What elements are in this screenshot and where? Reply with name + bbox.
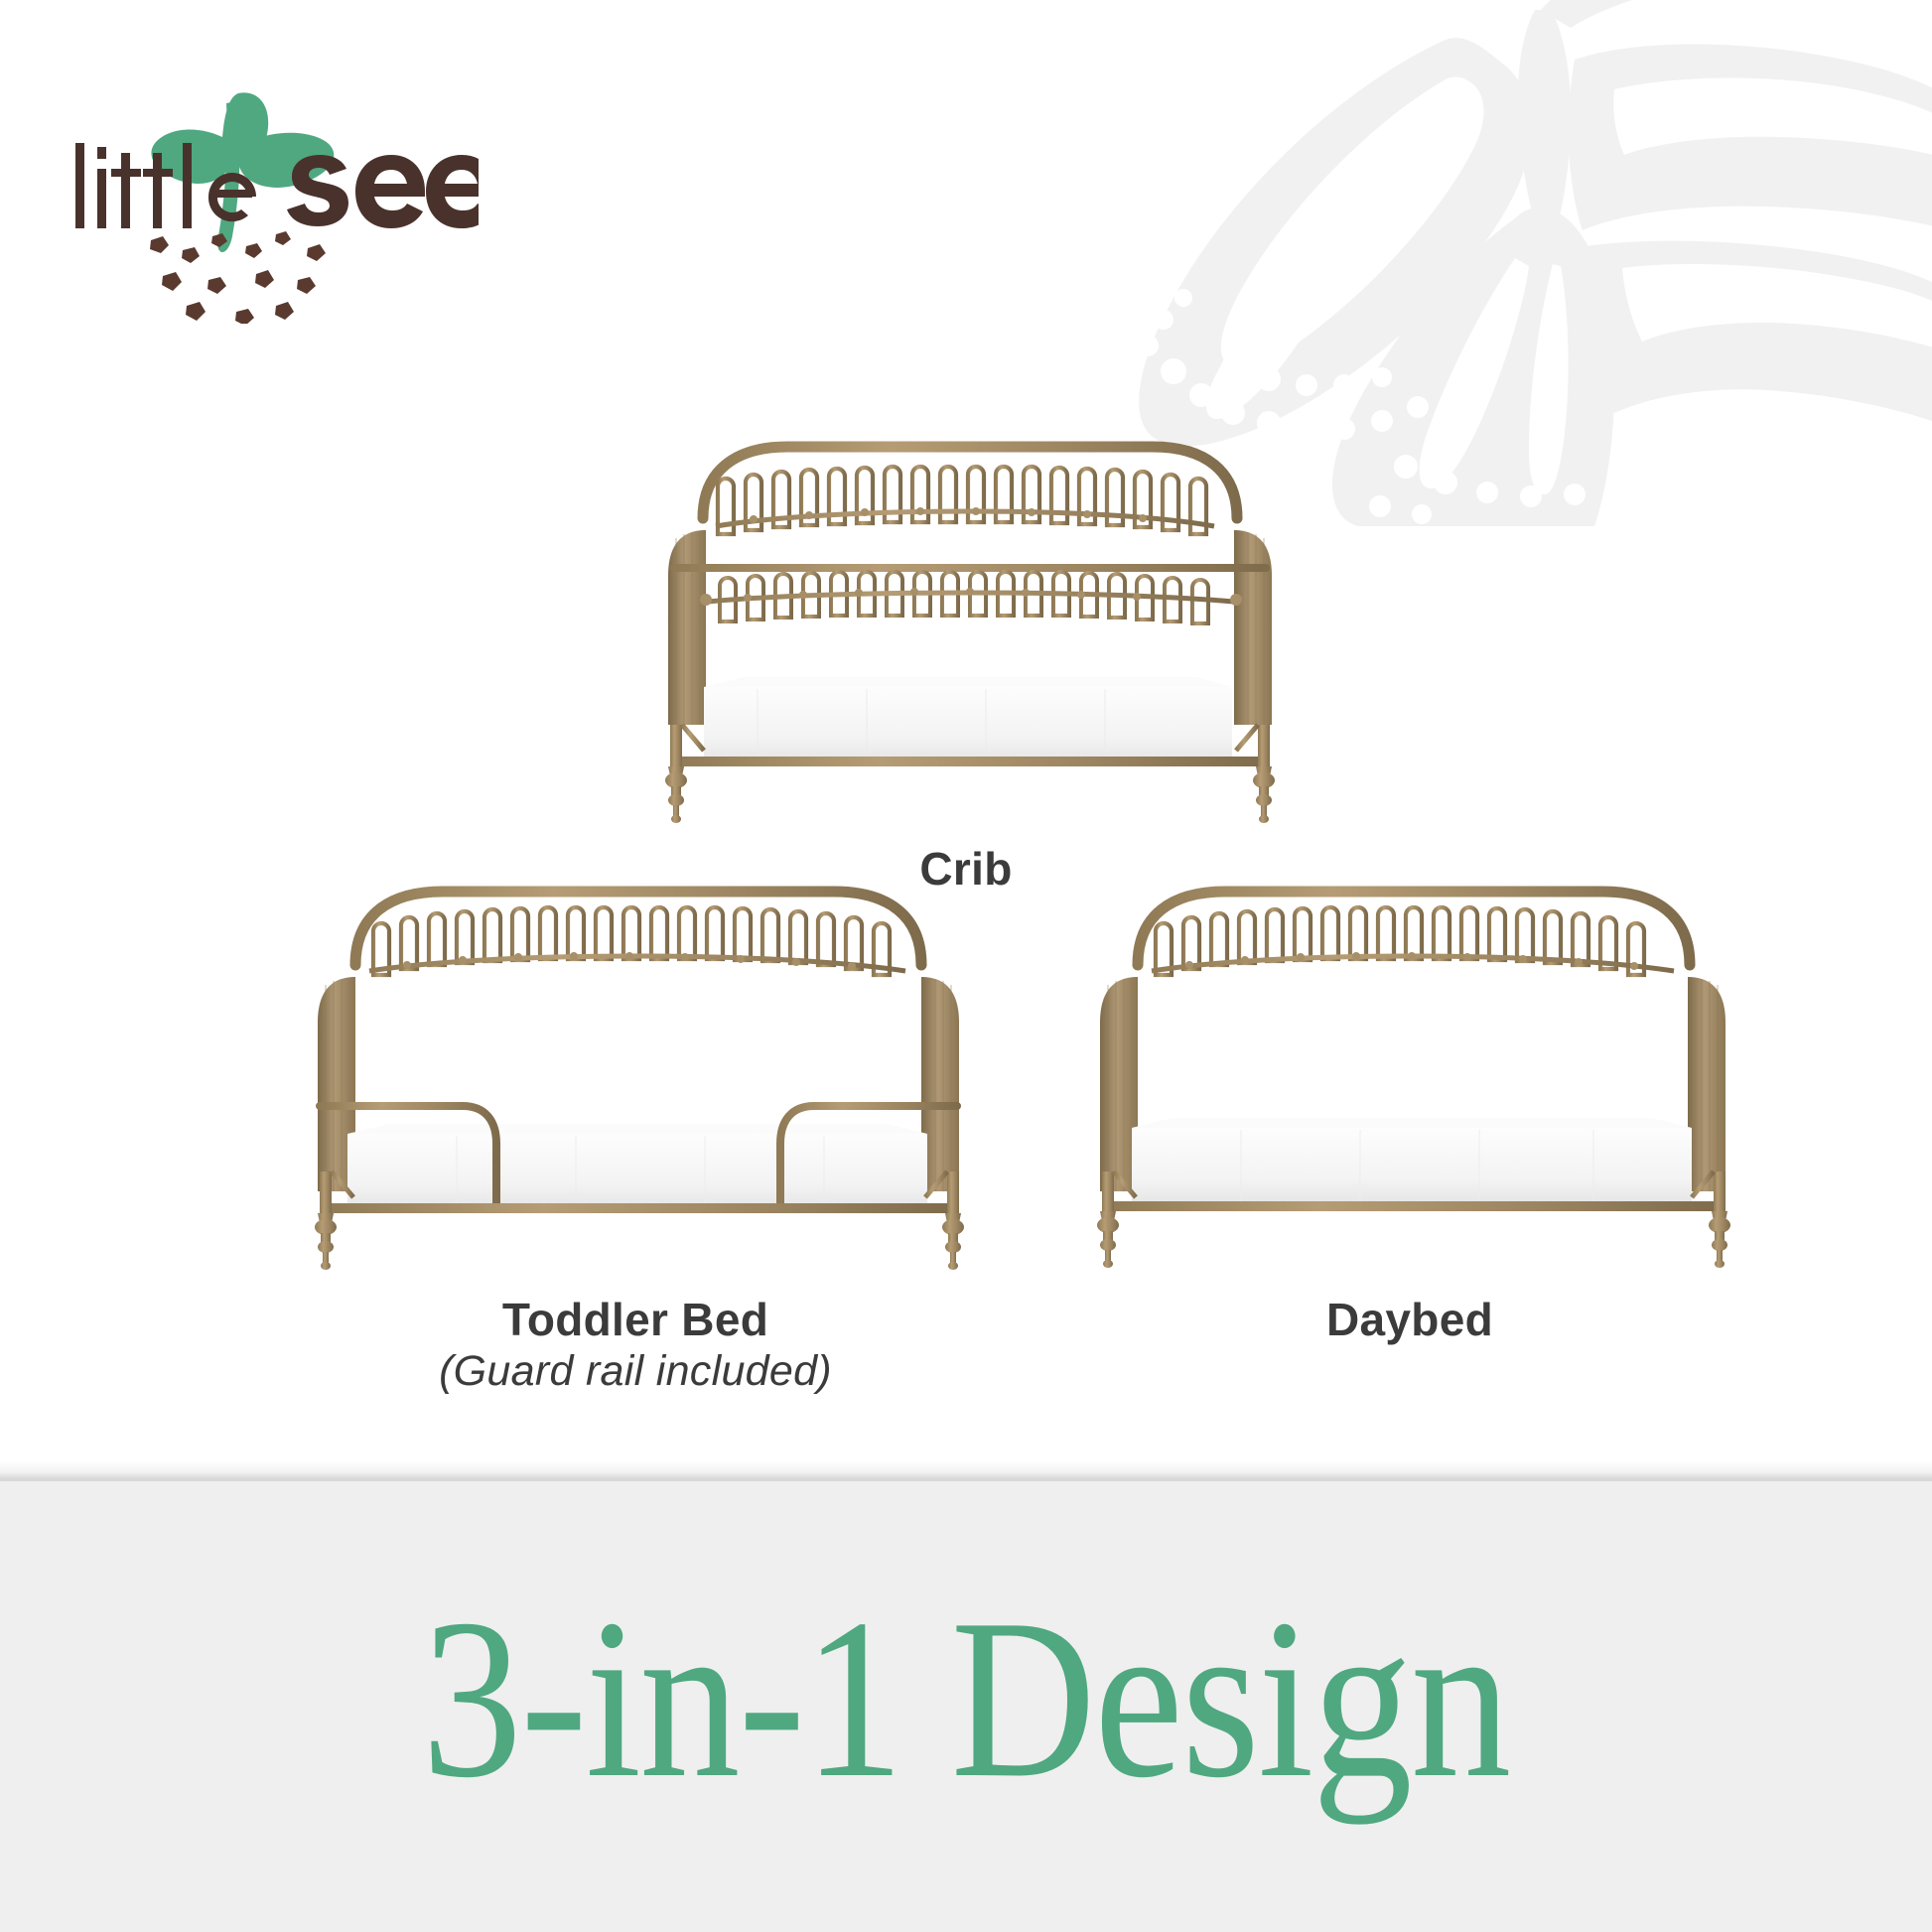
crib-icon: [609, 427, 1323, 829]
soil-flecks-icon: [150, 231, 326, 324]
daybed-caption: Daybed: [1052, 1296, 1767, 1343]
bottom-banner: 3-in-1 Design: [0, 1479, 1932, 1932]
banner-headline: 3-in-1 Design: [422, 1585, 1510, 1813]
product-daybed: Daybed: [1052, 874, 1767, 1343]
brand-logo: ™: [62, 85, 479, 324]
trademark-symbol: ™: [473, 217, 479, 229]
toddler-bed-icon: [278, 874, 993, 1276]
wordmark-seeds: [287, 155, 479, 228]
toddler-bed-caption: Toddler Bed (Guard rail included): [278, 1296, 993, 1397]
daybed-icon: [1052, 874, 1767, 1276]
daybed-title: Daybed: [1052, 1296, 1767, 1343]
infographic-canvas: ™: [0, 0, 1932, 1932]
toddler-bed-subtitle: (Guard rail included): [278, 1347, 993, 1396]
product-toddler-bed: Toddler Bed (Guard rail included): [278, 874, 993, 1397]
product-crib: Crib: [609, 427, 1323, 893]
toddler-bed-title: Toddler Bed: [278, 1296, 993, 1343]
